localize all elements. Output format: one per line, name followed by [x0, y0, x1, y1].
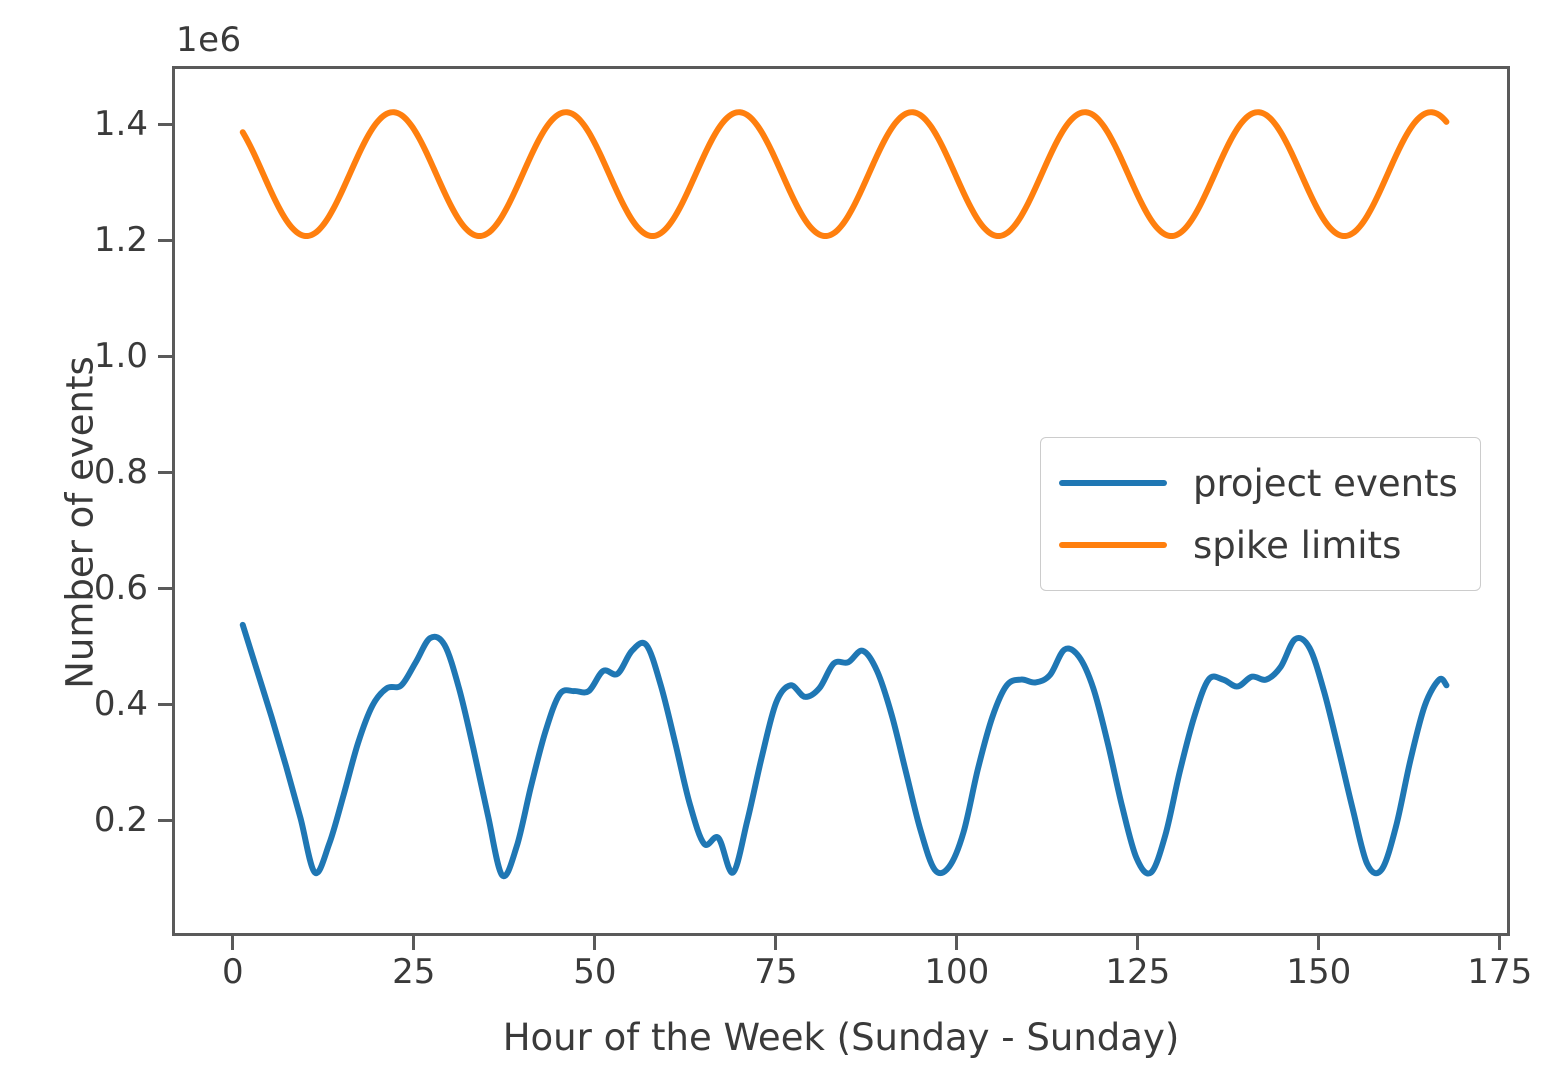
x-tick-label: 25	[392, 952, 435, 992]
legend-label-project-events: project events	[1193, 465, 1458, 502]
y-tick-mark	[158, 587, 172, 590]
x-tick-label: 125	[1105, 952, 1170, 992]
legend-item-project-events[interactable]: project events	[1059, 452, 1458, 514]
x-tick-mark	[593, 936, 596, 950]
x-tick-mark	[774, 936, 777, 950]
y-tick-mark	[158, 819, 172, 822]
chart-legend[interactable]: project events spike limits	[1040, 437, 1481, 591]
line-spike-limits	[243, 112, 1447, 236]
x-tick-mark	[955, 936, 958, 950]
y-tick-mark	[158, 355, 172, 358]
x-axis-title: Hour of the Week (Sunday - Sunday)	[0, 1016, 1564, 1059]
y-tick-mark	[158, 123, 172, 126]
x-tick-label: 0	[222, 952, 244, 992]
y-tick-label: 0.4	[94, 684, 148, 724]
line-project-events	[243, 625, 1447, 876]
legend-swatch-spike-limits	[1059, 542, 1167, 548]
legend-swatch-project-events	[1059, 480, 1167, 486]
y-tick-label: 0.8	[94, 452, 148, 492]
x-axis-title-text: Hour of the Week (Sunday - Sunday)	[503, 1016, 1180, 1059]
x-tick-mark	[1136, 936, 1139, 950]
y-tick-label: 0.2	[94, 800, 148, 840]
y-tick-mark	[158, 471, 172, 474]
legend-item-spike-limits[interactable]: spike limits	[1059, 514, 1458, 576]
y-tick-mark	[158, 239, 172, 242]
x-tick-mark	[1498, 936, 1501, 950]
chart-figure: 1e6 Number of events Hour of the Week (S…	[0, 0, 1564, 1080]
x-tick-label: 50	[573, 952, 616, 992]
y-tick-label: 1.0	[94, 336, 148, 376]
y-tick-label: 0.6	[94, 568, 148, 608]
x-tick-mark	[412, 936, 415, 950]
x-tick-label: 100	[924, 952, 989, 992]
x-tick-label: 150	[1286, 952, 1351, 992]
x-tick-mark	[1317, 936, 1320, 950]
y-tick-label: 1.4	[94, 104, 148, 144]
y-axis-offset-label: 1e6	[176, 20, 242, 60]
x-tick-mark	[231, 936, 234, 950]
y-tick-label: 1.2	[94, 220, 148, 260]
y-tick-mark	[158, 703, 172, 706]
x-tick-label: 175	[1467, 952, 1532, 992]
legend-label-spike-limits: spike limits	[1193, 527, 1401, 564]
x-tick-label: 75	[754, 952, 797, 992]
